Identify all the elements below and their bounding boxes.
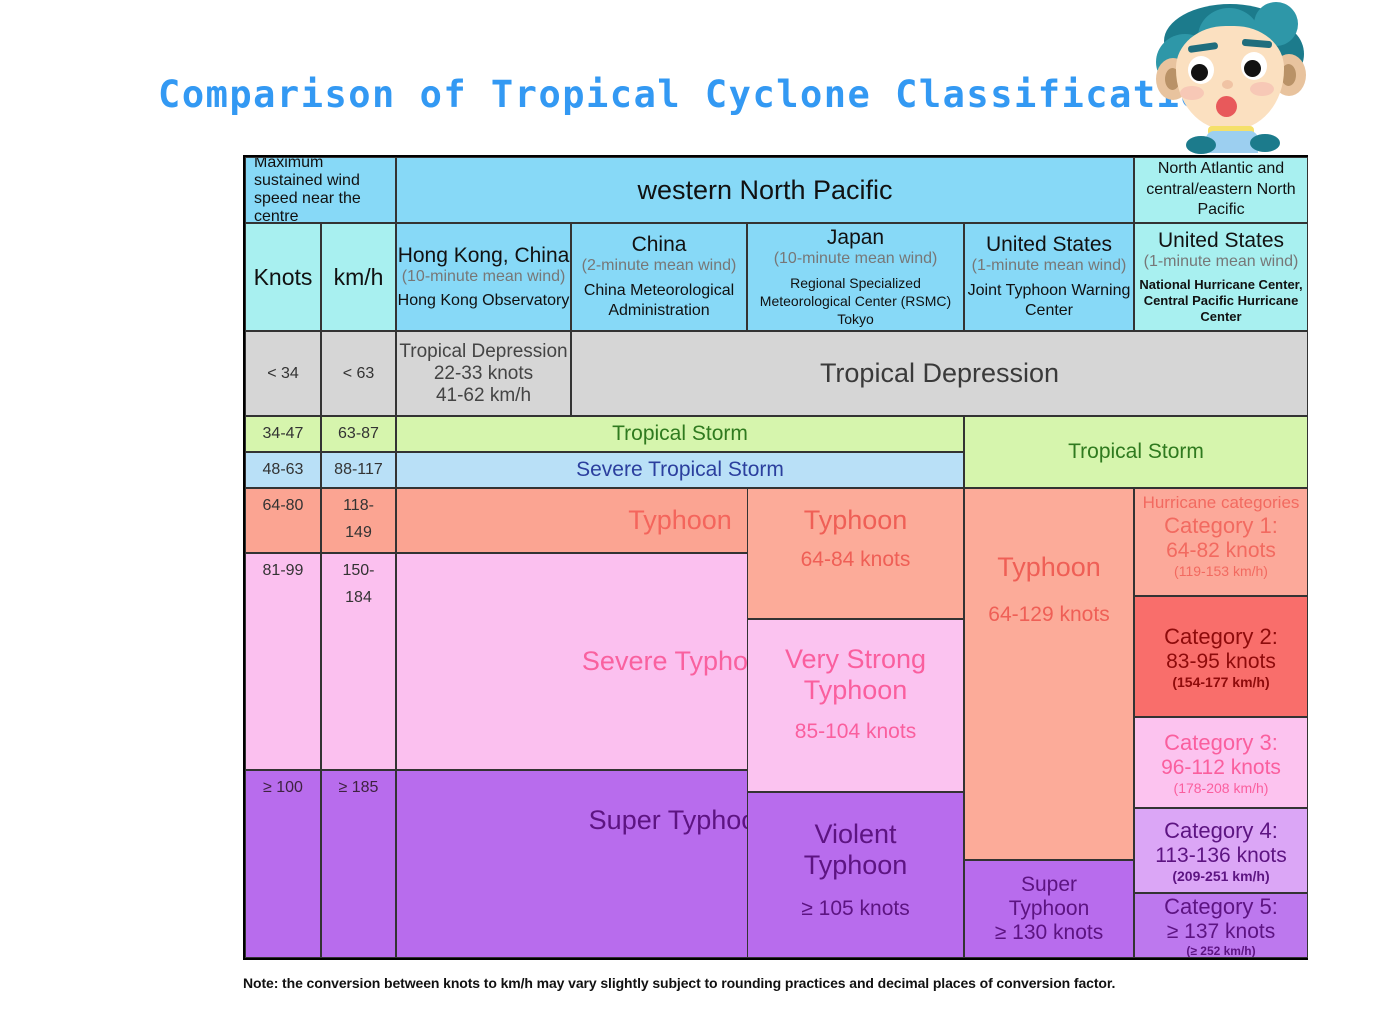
mascot-mouth xyxy=(1216,96,1237,117)
header-agency-china: China (2-minute mean wind) China Meteoro… xyxy=(571,223,747,331)
header-unit-kmh: km/h xyxy=(321,223,396,331)
cell-hurricane-category-3: Category 3: 96-112 knots (178-208 km/h) xyxy=(1134,717,1308,808)
mascot-pupil-right xyxy=(1244,60,1261,77)
cell-us-tropical-storm: Tropical Storm xyxy=(964,416,1308,488)
header-basin-atlantic: North Atlantic and central/eastern North… xyxy=(1134,157,1308,223)
speed-kmh-row-3: 118- 149 xyxy=(321,488,396,553)
speed-kmh-row-4: 150- 184 xyxy=(321,553,396,770)
classification-table: Maximum sustained wind speed near the ce… xyxy=(243,155,1308,960)
header-corner: Maximum sustained wind speed near the ce… xyxy=(245,157,396,223)
speed-knots-row-2: 48-63 xyxy=(245,452,321,488)
speed-knots-row-0: < 34 xyxy=(245,331,321,416)
mascot-hand-left xyxy=(1186,136,1216,154)
cell-hk-tropical-depression: Tropical Depression 22-33 knots 41-62 km… xyxy=(396,331,571,416)
mascot-illustration xyxy=(1150,0,1310,152)
cell-shared-tropical-depression: Tropical Depression xyxy=(571,331,1308,416)
cell-hurricane-category-1: Hurricane categories Category 1: 64-82 k… xyxy=(1134,488,1308,596)
cell-japan-violent-typhoon: Violent Typhoon ≥ 105 knots xyxy=(747,792,964,958)
cell-jtwc-super-typhoon: Super Typhoon ≥ 130 knots xyxy=(964,860,1134,958)
speed-kmh-row-0: < 63 xyxy=(321,331,396,416)
mascot-nose xyxy=(1222,80,1233,89)
speed-knots-row-1: 34-47 xyxy=(245,416,321,452)
speed-kmh-row-1: 63-87 xyxy=(321,416,396,452)
header-agency-jtwc: United States (1-minute mean wind) Joint… xyxy=(964,223,1134,331)
speed-knots-row-3: 64-80 xyxy=(245,488,321,553)
header-agency-hong-kong: Hong Kong, China (10-minute mean wind) H… xyxy=(396,223,571,331)
speed-knots-row-4: 81-99 xyxy=(245,553,321,770)
mascot-hand-right xyxy=(1250,134,1280,152)
cell-japan-typhoon: Typhoon 64-84 knots xyxy=(747,488,964,619)
cell-japan-very-strong-typhoon: Very Strong Typhoon 85-104 knots xyxy=(747,619,964,792)
speed-knots-row-5: ≥ 100 xyxy=(245,770,321,958)
mascot-pupil-left xyxy=(1191,64,1208,81)
cell-hurricane-category-2: Category 2: 83-95 knots (154-177 km/h) xyxy=(1134,596,1308,717)
header-basin-wnp: western North Pacific xyxy=(396,157,1134,223)
header-unit-knots: Knots xyxy=(245,223,321,331)
cell-wnp-tropical-storm: Tropical Storm xyxy=(396,416,964,452)
mascot-cheek-left xyxy=(1180,86,1204,100)
header-agency-japan: Japan (10-minute mean wind) Regional Spe… xyxy=(747,223,964,331)
header-agency-nhc: United States (1-minute mean wind) Natio… xyxy=(1134,223,1308,331)
cell-hurricane-category-5: Category 5: ≥ 137 knots (≥ 252 km/h) xyxy=(1134,893,1308,958)
cell-wnp-severe-tropical-storm: Severe Tropical Storm xyxy=(396,452,964,488)
cell-jtwc-typhoon: Typhoon 64-129 knots xyxy=(964,488,1134,860)
speed-kmh-row-5: ≥ 185 xyxy=(321,770,396,958)
cell-hurricane-category-4: Category 4: 113-136 knots (209-251 km/h) xyxy=(1134,808,1308,893)
mascot-cheek-right xyxy=(1250,82,1274,96)
conversion-note: Note: the conversion between knots to km… xyxy=(243,975,1243,991)
page-title: Comparison of Tropical Cyclone Classific… xyxy=(243,68,1143,120)
speed-kmh-row-2: 88-117 xyxy=(321,452,396,488)
